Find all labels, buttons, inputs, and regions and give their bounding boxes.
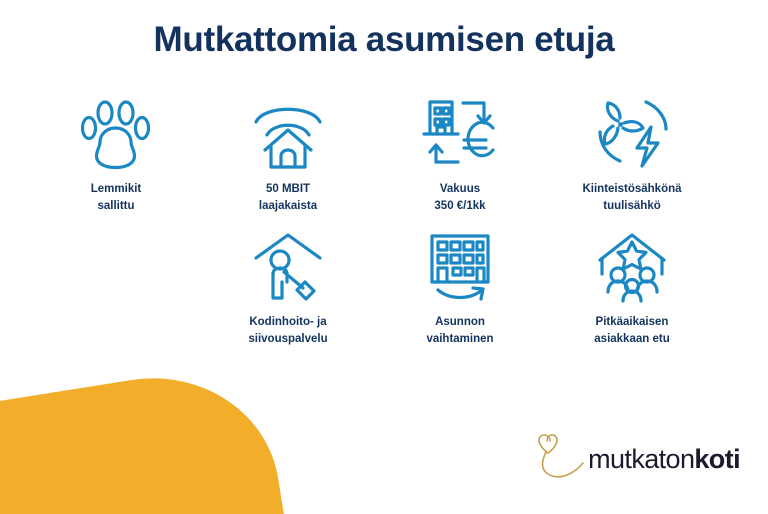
logo-word-bold: koti: [694, 444, 740, 474]
cleaning-person-roof-icon: [243, 228, 333, 306]
benefit-item-pets: Lemmikit sallittu: [30, 95, 202, 214]
wifi-house-icon: [243, 95, 333, 173]
family-star-house-icon: [587, 228, 677, 306]
benefit-item-deposit: Vakuus 350 €/1kk: [374, 95, 546, 214]
benefits-row-2: Kodinhoito- ja siivouspalvelu: [202, 228, 740, 347]
paw-print-icon: [71, 95, 161, 173]
logo-wordmark: mutkatonkoti: [588, 446, 740, 473]
benefit-item-cleaning: Kodinhoito- ja siivouspalvelu: [202, 228, 374, 347]
benefit-label: Vakuus 350 €/1kk: [434, 181, 485, 214]
logo-word-light: mutkaton: [588, 444, 694, 474]
brand-logo[interactable]: mutkatonkoti: [528, 429, 740, 490]
benefit-label: 50 MBIT laajakaista: [259, 181, 317, 214]
benefit-item-broadband: 50 MBIT laajakaista: [202, 95, 374, 214]
building-euro-exchange-icon: [415, 95, 505, 173]
page-title: Mutkattomia asumisen etuja: [0, 20, 768, 60]
benefit-item-loyalty: Pitkäaikaisen asiakkaan etu: [546, 228, 718, 347]
wind-turbine-lightning-icon: [587, 95, 677, 173]
benefit-label: Asunnon vaihtaminen: [426, 314, 493, 347]
benefits-grid: Lemmikit sallittu 50 MBIT laajakaista: [30, 95, 740, 348]
benefit-label: Pitkäaikaisen asiakkaan etu: [594, 314, 669, 347]
benefit-item-apartment-swap: Asunnon vaihtaminen: [374, 228, 546, 347]
apartment-swap-icon: [415, 228, 505, 306]
infographic-slide: Mutkattomia asumisen etuja Lemmikit sall…: [0, 0, 768, 514]
benefit-label: Kodinhoito- ja siivouspalvelu: [248, 314, 327, 347]
benefit-item-wind-power: Kiinteistösähkönä tuulisähkö: [546, 95, 718, 214]
heart-swoosh-icon: [528, 429, 586, 490]
benefits-row-1: Lemmikit sallittu 50 MBIT laajakaista: [30, 95, 740, 214]
orange-blob-shape: [0, 360, 295, 514]
benefit-label: Kiinteistösähkönä tuulisähkö: [582, 181, 681, 214]
benefit-label: Lemmikit sallittu: [91, 181, 142, 214]
